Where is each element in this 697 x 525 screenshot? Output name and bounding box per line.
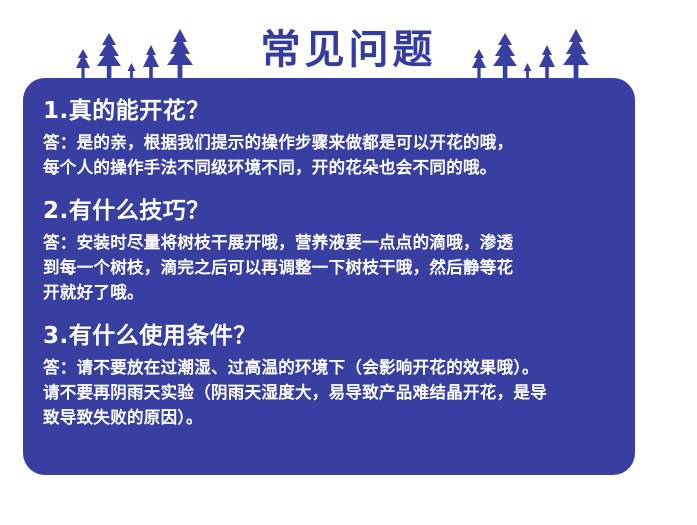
faq-panel: 1.真的能开花？ 答：是的亲，根据我们提示的操作步骤来做都是可以开花的哦， 每个… — [23, 78, 635, 475]
pine-tree-icon — [95, 32, 123, 78]
pine-tree-icon — [165, 28, 195, 78]
pine-tree-icon — [126, 62, 137, 78]
faq-answer-line: 请不要再阴雨天实验（阴雨天湿度大，易导致产品难结晶开花，是导 — [43, 380, 609, 405]
faq-answer-line: 答：安装时尽量将树枝干展开哦，营养液要一点点的滴哦，渗透 — [43, 230, 609, 255]
faq-item: 2.有什么技巧？ 答：安装时尽量将树枝干展开哦，营养液要一点点的滴哦，渗透 到每… — [43, 194, 609, 305]
faq-answer-line: 到每一个树枝，滴完之后可以再调整一下树枝干哦，然后静等花 — [43, 255, 609, 280]
pine-tree-icon — [140, 44, 162, 78]
pine-tree-icon — [491, 32, 519, 78]
pine-tree-icon — [74, 48, 92, 78]
pine-tree-icon — [470, 48, 488, 78]
faq-answer: 答：是的亲，根据我们提示的操作步骤来做都是可以开花的哦， 每个人的操作手法不同级… — [43, 130, 609, 180]
faq-answer: 答：安装时尽量将树枝干展开哦，营养液要一点点的滴哦，渗透 到每一个树枝，滴完之后… — [43, 230, 609, 305]
faq-item: 3.有什么使用条件？ 答：请不要放在过潮湿、过高温的环境下（会影响开花的效果哦）… — [43, 319, 609, 430]
pine-tree-icon — [522, 62, 533, 78]
pine-tree-icon — [536, 44, 558, 78]
pine-tree-row-right — [470, 26, 591, 78]
page-header: 常见问题 — [0, 0, 697, 86]
faq-answer-line: 答：是的亲，根据我们提示的操作步骤来做都是可以开花的哦， — [43, 130, 609, 155]
page-title: 常见问题 — [261, 28, 437, 72]
faq-answer-line: 致导致失败的原因）。 — [43, 405, 609, 430]
faq-answer-line: 开就好了哦。 — [43, 280, 609, 305]
faq-question: 1.真的能开花？ — [43, 94, 609, 128]
faq-item: 1.真的能开花？ 答：是的亲，根据我们提示的操作步骤来做都是可以开花的哦， 每个… — [43, 94, 609, 180]
faq-answer: 答：请不要放在过潮湿、过高温的环境下（会影响开花的效果哦）。 请不要再阴雨天实验… — [43, 355, 609, 430]
faq-answer-line: 答：请不要放在过潮湿、过高温的环境下（会影响开花的效果哦）。 — [43, 355, 609, 380]
faq-question: 3.有什么使用条件？ — [43, 319, 609, 353]
faq-answer-line: 每个人的操作手法不同级环境不同，开的花朵也会不同的哦。 — [43, 155, 609, 180]
faq-question: 2.有什么技巧？ — [43, 194, 609, 228]
pine-tree-row-left — [74, 26, 195, 78]
faq-page: 常见问题 1.真的能开花？ 答：是的亲，根据我们提示的操作步骤来做都是可以开花的… — [0, 0, 697, 525]
pine-tree-icon — [561, 28, 591, 78]
